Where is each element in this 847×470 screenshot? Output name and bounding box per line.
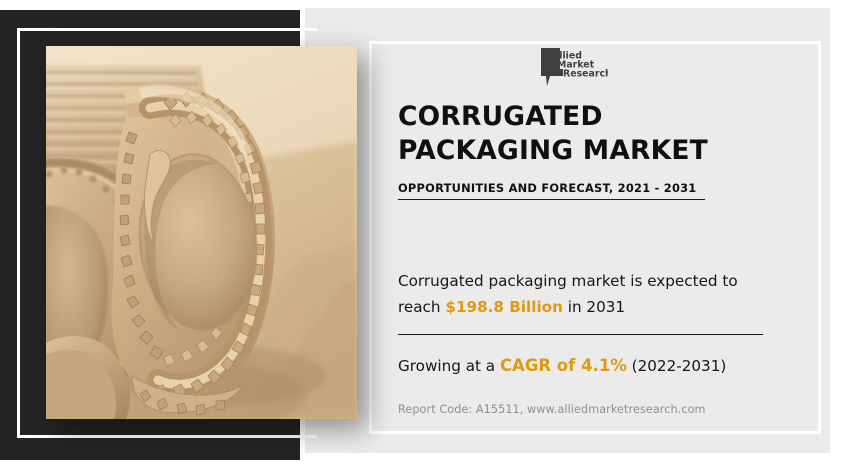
allied-market-research-logo: Allied Market Research	[538, 46, 608, 94]
cagr-statement: Growing at a CAGR of 4.1% (2022-2031)	[398, 356, 770, 375]
market-size-line: Corrugated packaging market is expected …	[398, 268, 764, 320]
section-divider	[398, 334, 763, 335]
market-size-value: $198.8 Billion	[445, 298, 563, 316]
logo-text-research: Research	[563, 68, 608, 79]
report-footer: Report Code: A15511, www.alliedmarketres…	[398, 403, 770, 416]
cagr-value: CAGR of 4.1%	[500, 356, 627, 375]
market-size-suffix: in 2031	[563, 298, 625, 316]
report-banner: Allied Market Research CORRUGATED PACKAG…	[0, 0, 847, 470]
report-subtitle: OPPORTUNITIES AND FORECAST, 2021 - 2031	[398, 181, 705, 195]
corrugated-cardboard-photo	[46, 46, 357, 419]
subtitle-container: OPPORTUNITIES AND FORECAST, 2021 - 2031	[398, 181, 705, 200]
report-content: CORRUGATED PACKAGING MARKET OPPORTUNITIE…	[398, 100, 770, 416]
cagr-prefix: Growing at a	[398, 357, 500, 375]
market-size-statement: Corrugated packaging market is expected …	[398, 268, 764, 320]
page-title: CORRUGATED PACKAGING MARKET	[398, 100, 758, 168]
cagr-suffix: (2022-2031)	[627, 357, 726, 375]
